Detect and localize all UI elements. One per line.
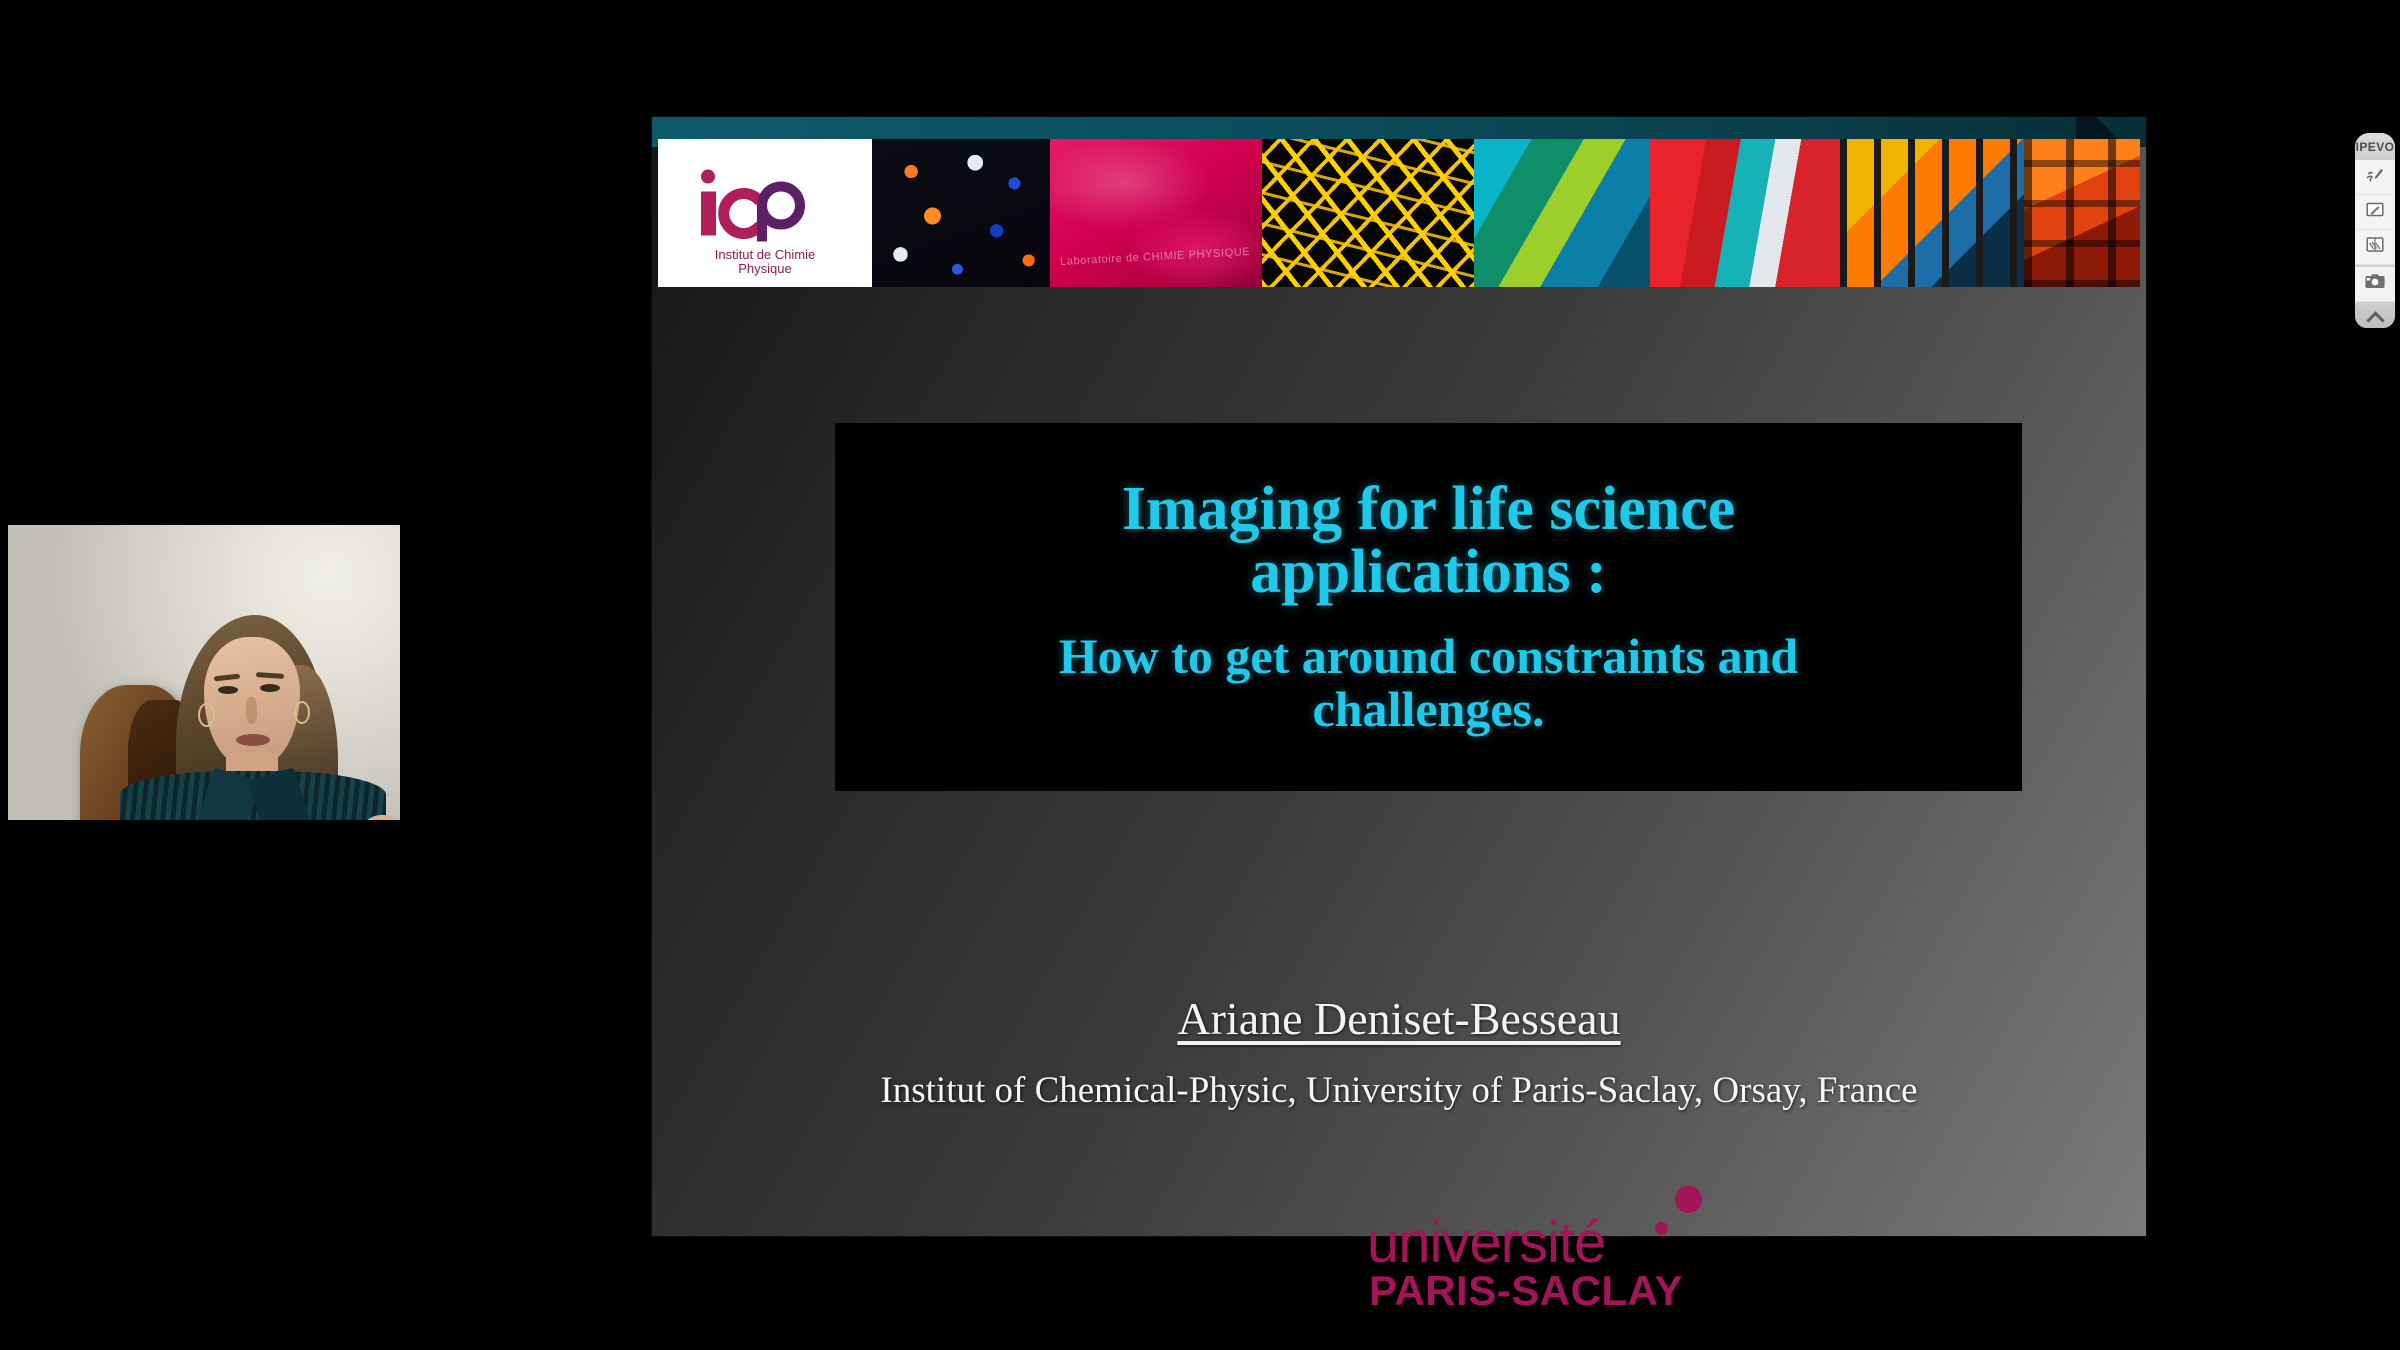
icp-caption-line1: Institut de Chimie	[715, 248, 815, 263]
screen-mark-icon	[2365, 235, 2385, 260]
banner-icp-logo: Institut de Chimie Physique	[658, 139, 872, 287]
ups-logo-dot-large	[1675, 1186, 1702, 1213]
slide-author-name: Ariane Deniset-Besseau	[652, 992, 2146, 1045]
slide-header-banner: Institut de Chimie Physique Laboratoire …	[652, 117, 2146, 287]
banner-photo-strip: Institut de Chimie Physique Laboratoire …	[658, 139, 2140, 287]
slide-title-subtitle: How to get around constraints and challe…	[1037, 630, 1820, 736]
annotation-pen-icon	[2365, 165, 2385, 190]
slide-subtitle-line2: challenges.	[1313, 681, 1545, 737]
ipevo-toolbar[interactable]: IPEVO	[2355, 133, 2395, 328]
speaker-webcam-video	[8, 525, 400, 820]
banner-photo-yellow-network	[1262, 139, 1474, 287]
banner-photo-pink: Laboratoire de CHIMIE PHYSIQUE	[1050, 139, 1262, 287]
camera-snapshot-icon	[2364, 273, 2386, 296]
ipevo-collapse-button[interactable]	[2355, 302, 2395, 328]
slide-title-line2: applications :	[1250, 538, 1607, 606]
speaker-eye-right	[260, 684, 280, 692]
icp-logo-caption: Institut de Chimie Physique	[715, 248, 815, 277]
slide-author-affiliation: Institut of Chemical-Physic, University …	[652, 1069, 2146, 1112]
speaker-eye-left	[218, 686, 238, 694]
ups-logo-subtitle: PARIS-SACLAY	[1369, 1270, 1683, 1312]
speaker-mouth	[236, 734, 270, 746]
ups-logo-word: université	[1367, 1214, 1605, 1272]
speaker-nose	[246, 697, 257, 724]
slide-title-box: Imaging for life science applications : …	[835, 423, 2022, 791]
ipevo-annotation-button[interactable]	[2355, 160, 2395, 195]
slide-title-line1: Imaging for life science	[1122, 475, 1736, 543]
banner-photo-orange-building	[2024, 139, 2140, 287]
banner-photo-dots	[872, 139, 1050, 287]
speaker-earring-right	[294, 701, 310, 724]
slide-subtitle-line1: How to get around constraints and	[1059, 628, 1798, 684]
participant-empty-tile	[8, 8, 396, 518]
ipevo-snapshot-button[interactable]	[2355, 265, 2395, 302]
ups-logo-dot-small	[1655, 1222, 1668, 1235]
banner-photo-teal-green	[1474, 139, 1650, 287]
whiteboard-icon	[2365, 200, 2385, 225]
webcam-tile[interactable]	[8, 525, 400, 820]
chevron-up-icon	[2368, 308, 2383, 323]
banner-photo-glass-facade	[1840, 139, 2024, 287]
ipevo-whiteboard-button[interactable]	[2355, 195, 2395, 230]
participant-column	[0, 0, 402, 1350]
shared-slide[interactable]: Institut de Chimie Physique Laboratoire …	[652, 117, 2146, 1236]
universite-paris-saclay-logo: université PARIS-SACLAY	[1367, 1182, 1705, 1307]
icp-logo-mark	[690, 168, 840, 247]
icp-caption-line2: Physique	[715, 262, 815, 277]
banner-photo-red-blocks	[1650, 139, 1840, 287]
ipevo-brand-label: IPEVO	[2355, 133, 2395, 160]
ipevo-screen-mark-button[interactable]	[2355, 230, 2395, 265]
banner-photo-caption: Laboratoire de CHIMIE PHYSIQUE	[1060, 246, 1251, 268]
speaker-earring-left	[198, 703, 215, 727]
slide-title-main: Imaging for life science applications :	[1092, 478, 1766, 604]
